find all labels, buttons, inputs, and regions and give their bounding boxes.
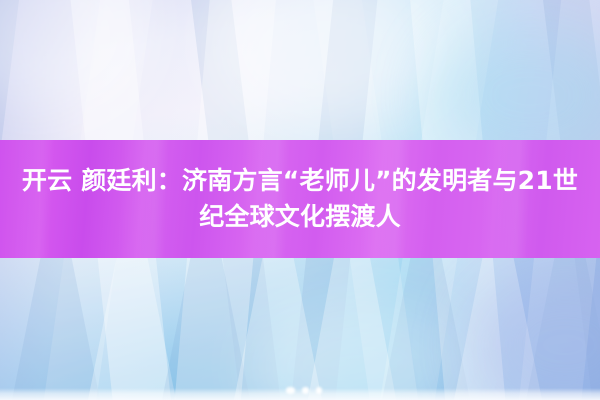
- haze-fleck: [302, 387, 309, 394]
- title-band: 开云 颜廷利：济南方言“老师儿”的发明者与21世纪全球文化摆渡人: [0, 140, 600, 258]
- haze-fleck: [316, 387, 322, 394]
- banner-image: 开云 颜廷利：济南方言“老师儿”的发明者与21世纪全球文化摆渡人: [0, 0, 600, 400]
- haze-fleck: [286, 387, 295, 394]
- bottom-haze-strip: [0, 388, 600, 400]
- page-title: 开云 颜廷利：济南方言“老师儿”的发明者与21世纪全球文化摆渡人: [12, 163, 589, 235]
